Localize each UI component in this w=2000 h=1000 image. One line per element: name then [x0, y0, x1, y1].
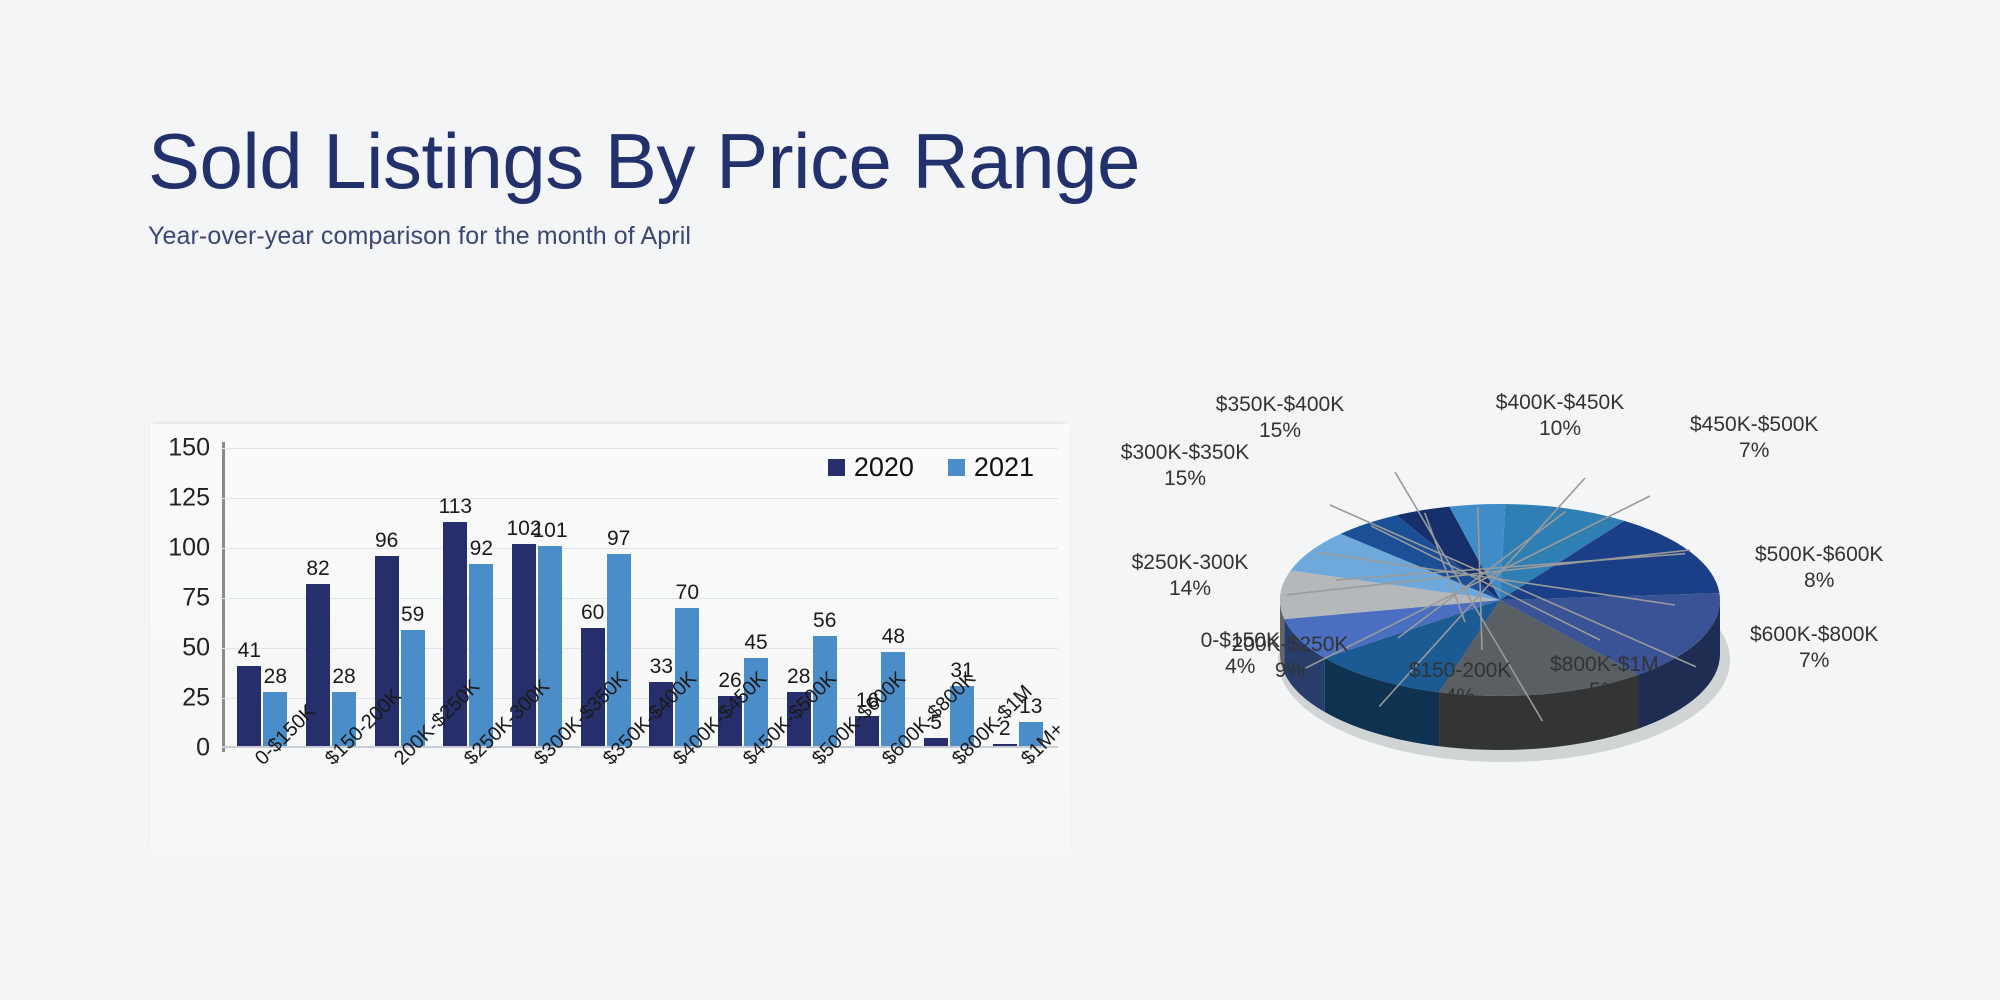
bar-value-label: 41: [238, 640, 261, 661]
y-axis-tick: 0: [196, 736, 210, 761]
pie-label-percent: 4%: [1409, 684, 1512, 710]
pie-label-percent: 7%: [1690, 438, 1818, 464]
pie-slice-label: 0-$150K4%: [1201, 628, 1280, 681]
pie-slice-label: $150-200K4%: [1409, 658, 1512, 711]
pie-label-percent: 5%: [1550, 678, 1659, 704]
bar-2021[interactable]: 97: [607, 554, 631, 748]
pie-3d-stage: $350K-$400K15%$400K-$450K10%$450K-$500K7…: [1130, 400, 1990, 820]
bar-value-label: 59: [401, 604, 424, 625]
legend-item-2021[interactable]: 2021: [948, 454, 1034, 481]
pie-slice-label: $500K-$600K8%: [1755, 542, 1883, 595]
bar-group: 4128: [228, 448, 297, 748]
pie-label-text: $150-200K: [1409, 659, 1512, 682]
pie-label-text: $500K-$600K: [1755, 543, 1883, 566]
pie-3d-svg: [1130, 400, 1990, 820]
pie-chart-panel: $350K-$400K15%$400K-$450K10%$450K-$500K7…: [1130, 400, 1990, 820]
bar-2020[interactable]: 41: [237, 666, 261, 748]
bar-value-label: 101: [532, 520, 567, 541]
bar-value-label: 33: [650, 656, 673, 677]
bar-value-label: 60: [581, 602, 604, 623]
bar-value-label: 96: [375, 530, 398, 551]
legend-item-2020[interactable]: 2020: [828, 454, 914, 481]
y-axis-ticks: 1501251007550250: [156, 448, 216, 748]
pie-slice-label: $300K-$350K15%: [1121, 440, 1249, 493]
y-axis-tick: 125: [168, 486, 210, 511]
pie-label-text: $800K-$1M: [1550, 653, 1659, 676]
header: Sold Listings By Price Range Year-over-y…: [148, 122, 1140, 251]
pie-label-text: 0-$150K: [1201, 629, 1280, 652]
pie-label-text: $350K-$400K: [1216, 393, 1344, 416]
pie-label-percent: 14%: [1132, 576, 1249, 602]
pie-slice-label: $350K-$400K15%: [1216, 392, 1344, 445]
legend-label: 2021: [974, 454, 1034, 481]
legend-swatch-icon: [948, 459, 965, 476]
page-subtitle: Year-over-year comparison for the month …: [148, 222, 1140, 251]
y-axis-tick: 75: [182, 586, 210, 611]
bar-value-label: 48: [882, 626, 905, 647]
bar-value-label: 70: [676, 582, 699, 603]
bar-value-label: 97: [607, 528, 630, 549]
pie-slice-label: $400K-$450K10%: [1496, 390, 1624, 443]
bar-value-label: 28: [332, 666, 355, 687]
bar-value-label: 56: [813, 610, 836, 631]
pie-slice-label: $250K-300K14%: [1132, 550, 1249, 603]
legend-label: 2020: [854, 454, 914, 481]
pie-slice-label: $600K-$800K7%: [1750, 622, 1878, 675]
y-axis-tick: 100: [168, 536, 210, 561]
bar-2021[interactable]: 101: [538, 546, 562, 748]
pie-label-percent: 4%: [1201, 654, 1280, 680]
legend-swatch-icon: [828, 459, 845, 476]
y-axis-tick: 25: [182, 686, 210, 711]
bar-2021[interactable]: 92: [469, 564, 493, 748]
bar-value-label: 113: [439, 496, 472, 517]
bar-chart-panel: 1501251007550250 41288228965911392102101…: [150, 424, 1070, 854]
pie-label-percent: 10%: [1496, 416, 1624, 442]
pie-label-text: $450K-$500K: [1690, 413, 1818, 436]
page-title: Sold Listings By Price Range: [148, 122, 1140, 200]
bar-value-label: 45: [744, 632, 767, 653]
pie-label-text: $250K-300K: [1132, 551, 1249, 574]
y-axis-tick: 150: [168, 436, 210, 461]
pie-label-percent: 15%: [1121, 466, 1249, 492]
bar-value-label: 82: [306, 558, 329, 579]
bar-chart-legend: 20202021: [828, 454, 1034, 481]
bar-value-label: 28: [264, 666, 287, 687]
pie-label-percent: 7%: [1750, 648, 1878, 674]
bar-value-label: 92: [470, 538, 493, 559]
pie-label-percent: 8%: [1755, 568, 1883, 594]
pie-label-text: $400K-$450K: [1496, 391, 1624, 414]
pie-slice-label: $800K-$1M5%: [1550, 652, 1659, 705]
slide-canvas: Sold Listings By Price Range Year-over-y…: [0, 0, 2000, 1000]
bar-value-label: 28: [787, 666, 810, 687]
y-axis-tick: 50: [182, 636, 210, 661]
pie-label-text: $600K-$800K: [1750, 623, 1878, 646]
pie-label-text: $300K-$350K: [1121, 441, 1249, 464]
pie-slice-label: $450K-$500K7%: [1690, 412, 1818, 465]
